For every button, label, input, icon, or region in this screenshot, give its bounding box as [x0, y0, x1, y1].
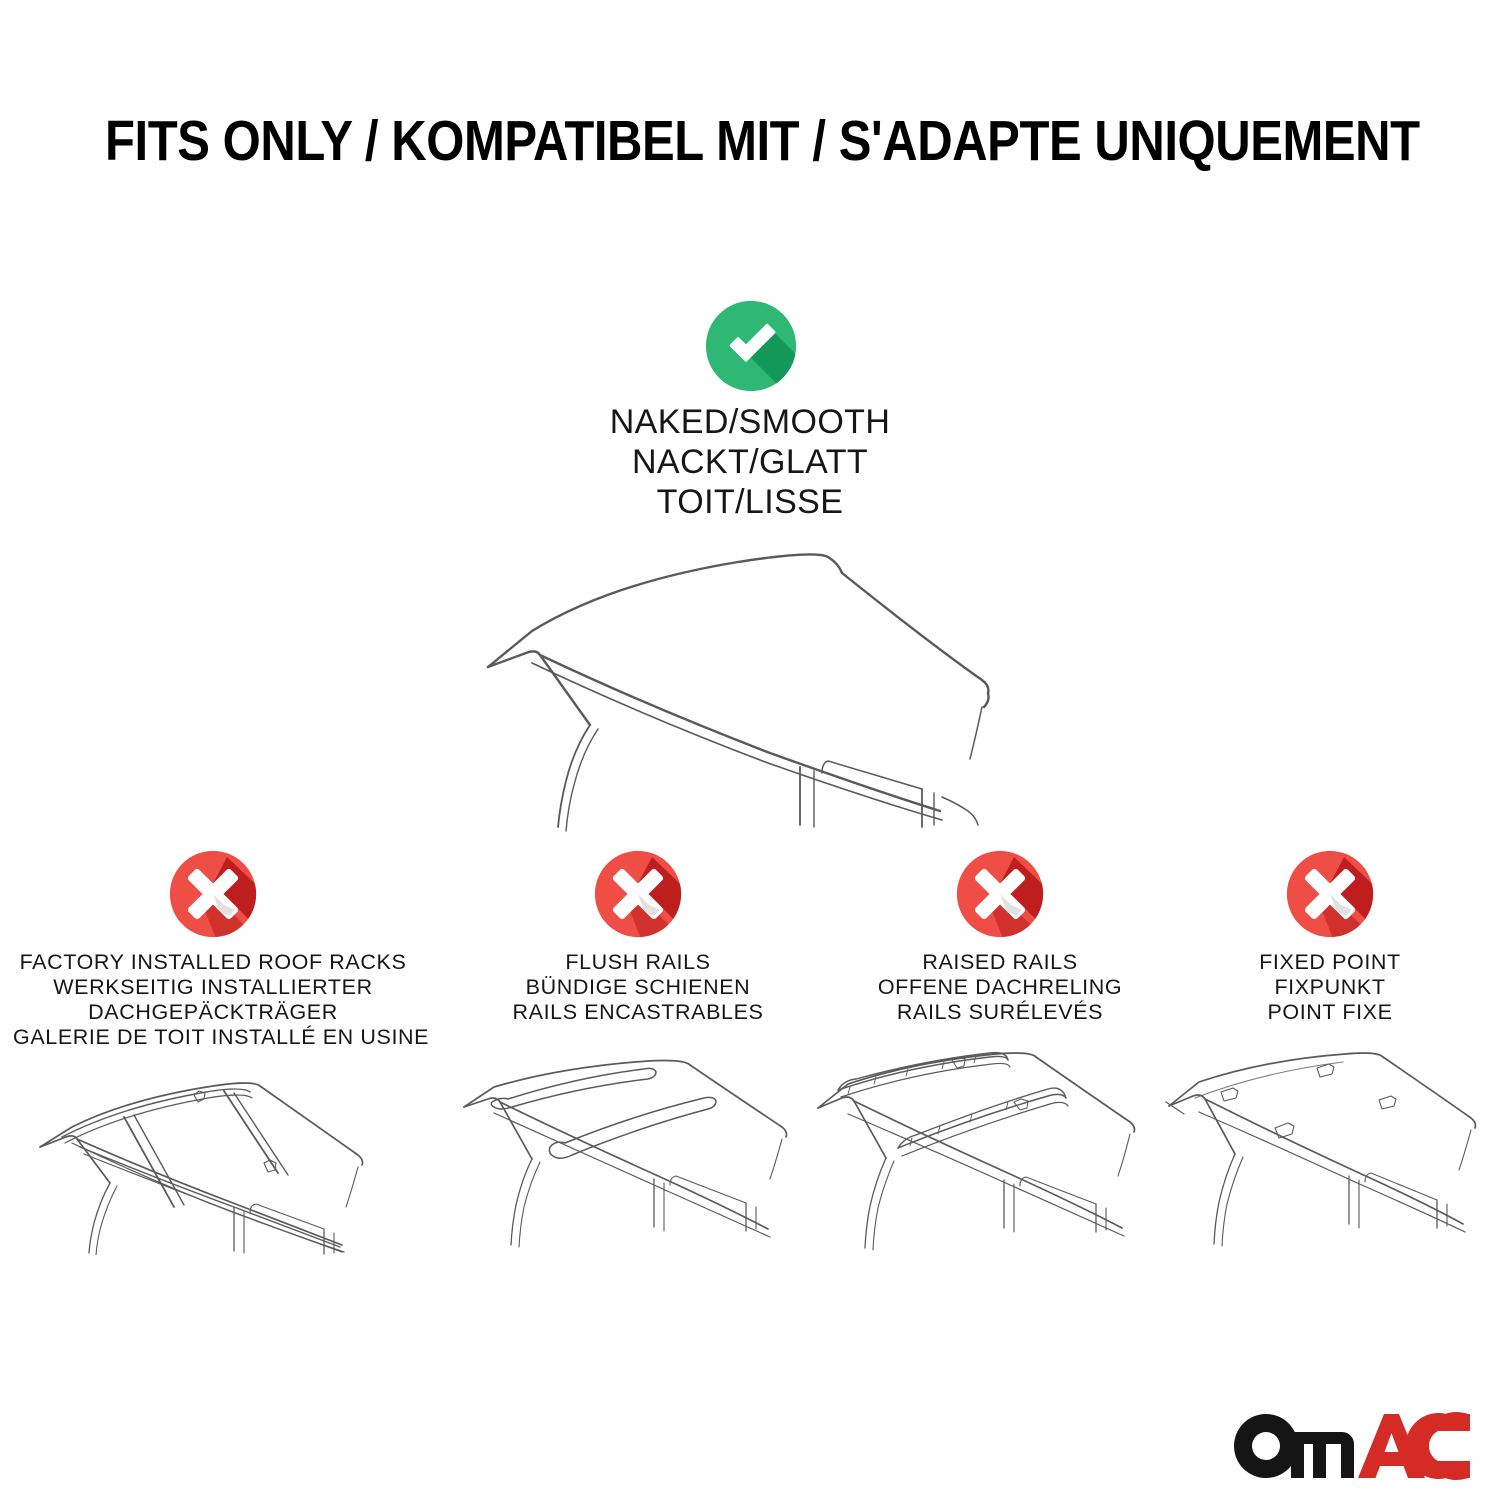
incompatible-labels: FACTORY INSTALLED ROOF RACKS WERKSEITIG …	[13, 950, 413, 1050]
cross-circle-icon	[1286, 850, 1374, 938]
label-line-2: OFFENE DACHRELING	[820, 975, 1180, 1000]
page-title: FITS ONLY / KOMPATIBEL MIT / S'ADAPTE UN…	[105, 108, 1395, 174]
incompatible-factory-installed-roof-racks: FACTORY INSTALLED ROOF RACKS WERKSEITIG …	[13, 850, 413, 1050]
car-roof-raised-rails-illustration	[814, 1048, 1186, 1258]
incompatible-flush-rails: FLUSH RAILS BÜNDIGE SCHIENEN RAILS ENCAS…	[443, 850, 833, 1025]
car-roof-fixed-point-illustration	[1165, 1048, 1495, 1258]
cross-circle-icon	[956, 850, 1044, 938]
compatible-label-line-1: NAKED/SMOOTH	[450, 402, 1050, 442]
incompatible-raised-rails: RAISED RAILS OFFENE DACHRELING RAILS SUR…	[820, 850, 1180, 1025]
car-roof-naked-smooth-illustration	[470, 535, 1030, 835]
label-line-1: FLUSH RAILS	[443, 950, 833, 975]
label-line-1: RAISED RAILS	[820, 950, 1180, 975]
label-line-3: RAILS SURÉLEVÉS	[820, 1000, 1180, 1025]
label-line-3: DACHGEPÄCKTRÄGER	[13, 1000, 413, 1025]
compatible-labels: NAKED/SMOOTH NACKT/GLATT TOIT/LISSE	[450, 402, 1050, 522]
incompatible-labels: FLUSH RAILS BÜNDIGE SCHIENEN RAILS ENCAS…	[443, 950, 833, 1025]
label-line-4: GALERIE DE TOIT INSTALLÉ EN USINE	[13, 1025, 413, 1050]
label-line-1: FACTORY INSTALLED ROOF RACKS	[13, 950, 413, 975]
incompatible-fixed-point: FIXED POINT FIXPUNKT POINT FIXE	[1170, 850, 1490, 1025]
car-roof-factory-racks-illustration	[28, 1055, 398, 1255]
cross-circle-icon	[594, 850, 682, 938]
omac-logo	[1232, 1412, 1470, 1480]
incompatible-labels: FIXED POINT FIXPUNKT POINT FIXE	[1170, 950, 1490, 1025]
label-line-2: WERKSEITIG INSTALLIERTER	[13, 975, 413, 1000]
label-line-2: FIXPUNKT	[1170, 975, 1490, 1000]
label-line-3: RAILS ENCASTRABLES	[443, 1000, 833, 1025]
compatible-label-line-2: NACKT/GLATT	[450, 442, 1050, 482]
label-line-1: FIXED POINT	[1170, 950, 1490, 975]
car-roof-flush-rails-illustration	[458, 1055, 818, 1255]
label-line-3: POINT FIXE	[1170, 1000, 1490, 1025]
check-circle-icon	[705, 300, 797, 392]
fitment-compatibility-infographic: FITS ONLY / KOMPATIBEL MIT / S'ADAPTE UN…	[0, 0, 1500, 1500]
compatible-label-line-3: TOIT/LISSE	[450, 482, 1050, 522]
cross-circle-icon	[169, 850, 257, 938]
incompatible-labels: RAISED RAILS OFFENE DACHRELING RAILS SUR…	[820, 950, 1180, 1025]
label-line-2: BÜNDIGE SCHIENEN	[443, 975, 833, 1000]
